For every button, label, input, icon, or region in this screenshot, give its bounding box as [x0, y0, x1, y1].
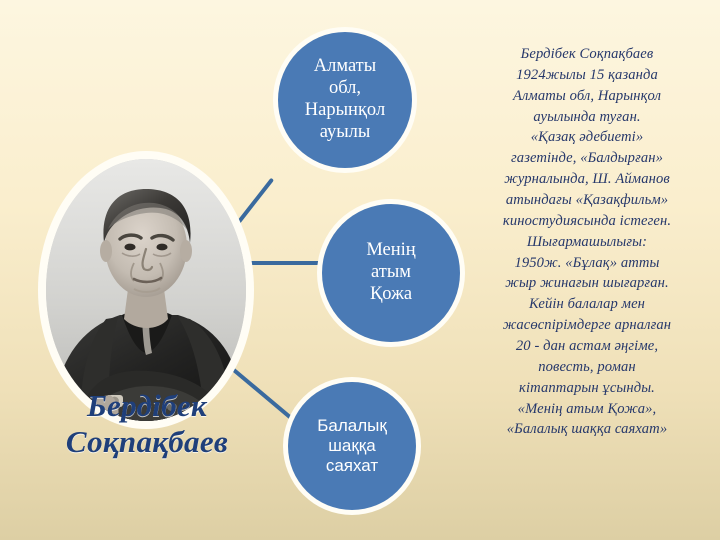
bubble-kozha[interactable]: Менің атым Қожа: [322, 204, 460, 342]
author-portrait: [42, 155, 250, 425]
bubble-birthplace[interactable]: Алматы обл, Нарынқол ауылы: [278, 32, 412, 168]
bubble-birthplace-label: Алматы обл, Нарынқол ауылы: [278, 56, 412, 143]
bubble-childhood[interactable]: Балалық шаққа саяхат: [288, 382, 416, 510]
page-title: Бердібек Соқпақбаев: [22, 388, 272, 459]
bubble-childhood-label: Балалық шаққа саяхат: [288, 416, 416, 476]
bubble-kozha-label: Менің атым Қожа: [322, 240, 460, 305]
portrait-photo: [46, 159, 246, 421]
slide-canvas: Бердібек Соқпақбаев Алматы обл, Нарынқол…: [0, 0, 720, 540]
connector-line-kozha: [240, 261, 332, 265]
biography-text: Бердібек Соқпақбаев 1924жылы 15 қазанда …: [468, 44, 706, 440]
